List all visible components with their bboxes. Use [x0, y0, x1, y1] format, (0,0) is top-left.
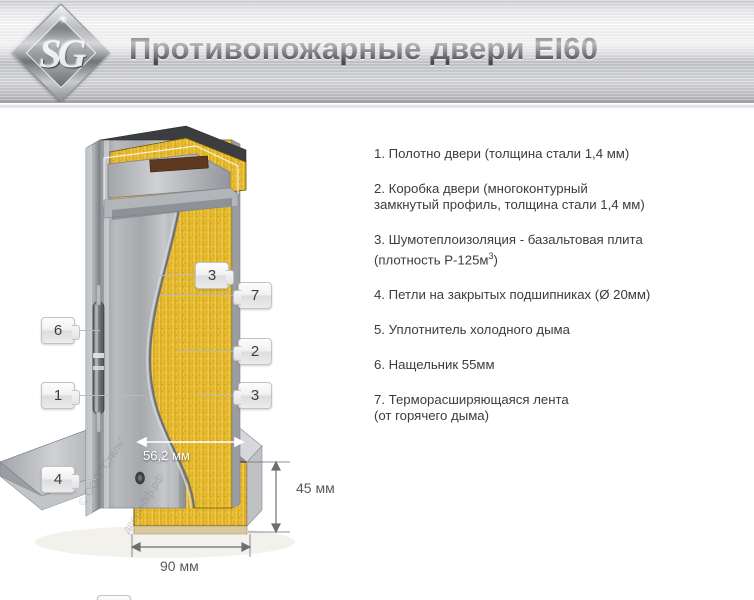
door-hinge: [93, 285, 104, 432]
leader-line-7: [160, 295, 239, 296]
callout-label: 6: [54, 322, 62, 339]
leader-line-2: [178, 351, 239, 352]
callout-2[interactable]: 2: [238, 338, 272, 365]
callout-1[interactable]: 1: [41, 382, 75, 409]
door-section-illustration: [0, 110, 374, 580]
leader-line-3-top: [152, 275, 196, 276]
header-divider: [0, 104, 754, 109]
page-header: SG Противопожарные двери EI60: [0, 0, 754, 103]
dim-label-45: 45 мм: [296, 480, 335, 496]
callout-5[interactable]: 5: [97, 595, 131, 600]
callout-label: 2: [251, 343, 259, 360]
dim-label-90: 90 мм: [160, 558, 199, 574]
company-diamond-logo: SG: [20, 12, 102, 94]
specification-list: 1. Полотно двери (толщина стали 1,4 мм) …: [374, 146, 746, 443]
spec-item-7: 7. Терморасширяющаяся лента (от горячего…: [374, 392, 746, 424]
spec-item-2: 2. Коробка двери (многоконтурный замкнут…: [374, 181, 746, 213]
logo-monogram: SG: [20, 12, 102, 94]
door-cross-section-diagram: © ООО "Сталь" двери-пф.рф 3 7 6 2 1 3 4 …: [0, 110, 374, 580]
spec-item-4: 4. Петли на закрытых подшипниках (Ø 20мм…: [374, 287, 746, 303]
leader-line-1: [74, 395, 144, 396]
page-title: Противопожарные двери EI60: [129, 31, 598, 67]
spec-item-3: 3. Шумотеплоизоляция - базальтовая плита…: [374, 232, 746, 268]
infographic-page: SG Противопожарные двери EI60: [0, 0, 754, 600]
callout-label: 4: [54, 471, 62, 488]
dim-label-56: 56,2 мм: [143, 448, 190, 463]
callout-6[interactable]: 6: [41, 317, 75, 344]
callout-7[interactable]: 7: [238, 282, 272, 309]
callout-4[interactable]: 4: [41, 466, 75, 493]
cold-smoke-seal: [136, 472, 145, 484]
callout-3-top[interactable]: 3: [195, 262, 229, 289]
spec-item-5: 5. Уплотнитель холодного дыма: [374, 322, 746, 338]
callout-3-middle[interactable]: 3: [238, 382, 272, 409]
spec-item-6: 6. Нащельник 55мм: [374, 357, 746, 373]
spec-item-1: 1. Полотно двери (толщина стали 1,4 мм): [374, 146, 746, 162]
callout-label: 1: [54, 387, 62, 404]
callout-label: 7: [251, 287, 259, 304]
callout-label: 3: [208, 267, 216, 284]
callout-label: 3: [251, 387, 259, 404]
